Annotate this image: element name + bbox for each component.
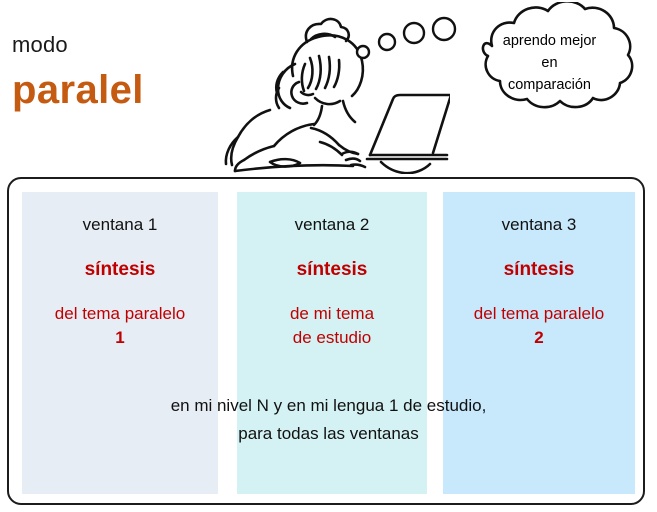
window-detail-2-line-1: de mi tema — [237, 302, 427, 326]
thought-bubble-line-3: comparación — [468, 74, 631, 96]
window-detail-2-line-2: de estudio — [237, 326, 427, 350]
window-detail-1-line-1: del tema paralelo — [22, 302, 218, 326]
window-column-1[interactable]: ventana 1 síntesis del tema paralelo 1 — [22, 192, 218, 382]
window-column-2[interactable]: ventana 2 síntesis de mi tema de estudio — [237, 192, 427, 382]
window-heading-2: síntesis — [237, 260, 427, 279]
window-heading-1: síntesis — [22, 260, 218, 279]
window-detail-3-line-2: 2 — [443, 326, 635, 350]
panel-caption: en mi nivel N y en mi lengua 1 de estudi… — [22, 392, 635, 447]
window-name-3: ventana 3 — [443, 216, 635, 233]
window-column-3[interactable]: ventana 3 síntesis del tema paralelo 2 — [443, 192, 635, 382]
header-area: modo paralel — [0, 0, 657, 177]
window-name-1: ventana 1 — [22, 216, 218, 233]
window-detail-3: del tema paralelo 2 — [443, 302, 635, 350]
panel-caption-line-1: en mi nivel N y en mi lengua 1 de estudi… — [22, 392, 635, 420]
thought-bubble-text: aprendo mejor en comparación — [468, 30, 631, 96]
window-detail-1: del tema paralelo 1 — [22, 302, 218, 350]
mode-name: paralel — [12, 68, 144, 113]
thought-bubble-line-2: en — [468, 52, 631, 74]
window-name-2: ventana 2 — [237, 216, 427, 233]
thought-bubble-line-1: aprendo mejor — [468, 30, 631, 52]
window-heading-3: síntesis — [443, 260, 635, 279]
mode-label: modo — [12, 32, 68, 58]
window-detail-1-line-2: 1 — [22, 326, 218, 350]
window-detail-2: de mi tema de estudio — [237, 302, 427, 350]
window-detail-3-line-1: del tema paralelo — [443, 302, 635, 326]
panel-caption-line-2: para todas las ventanas — [22, 420, 635, 448]
